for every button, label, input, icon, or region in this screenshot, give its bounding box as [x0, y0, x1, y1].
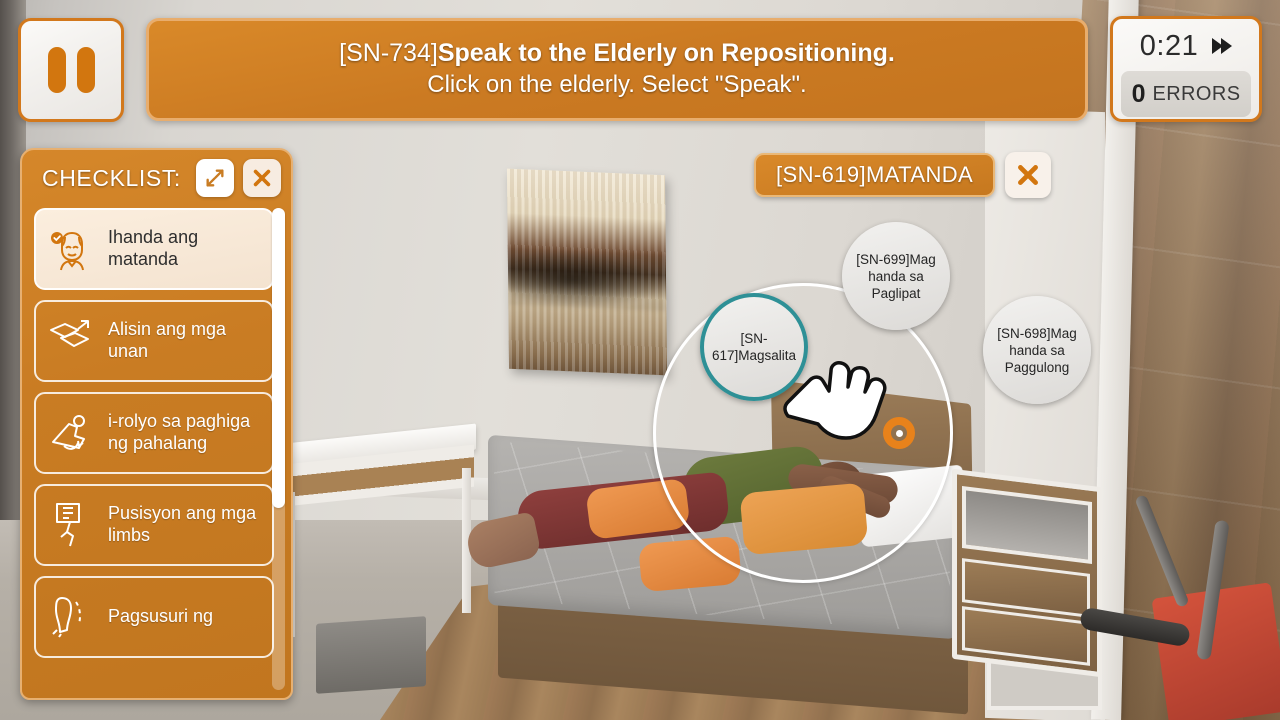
app-root: [SN-734]Speak to the Elderly on Repositi…: [0, 0, 1280, 720]
radial-option-label: [SN-699]Mag handa sa Paglipat: [848, 251, 944, 302]
pause-bar-left: [48, 47, 66, 93]
checklist-header: CHECKLIST:: [22, 150, 291, 206]
checklist-title: CHECKLIST:: [42, 165, 187, 192]
checklist-scrollbar-thumb[interactable]: [272, 208, 285, 508]
hand-cursor-icon: [772, 340, 898, 466]
pillow-remove-icon: [48, 316, 96, 366]
radial-menu-option-prepare-transfer[interactable]: [SN-699]Mag handa sa Paglipat: [842, 222, 950, 330]
objective-title: Speak to the Elderly on Repositioning.: [438, 39, 895, 67]
checklist-scrollbar[interactable]: [272, 208, 285, 690]
objective-instruction: Click on the elderly. Select "Speak".: [427, 71, 806, 100]
list-item-label: Pagsusuri ng: [108, 606, 213, 628]
checklist-panel: CHECKLIST:: [20, 148, 293, 700]
elderly-face-icon: [48, 224, 96, 274]
objective-title-line: [SN-734]Speak to the Elderly on Repositi…: [339, 39, 895, 68]
list-item-label: Ihanda ang matanda: [108, 227, 260, 271]
limb-position-icon: [48, 500, 96, 550]
list-item[interactable]: i-rolyo sa paghiga ng pahalang: [34, 392, 274, 474]
fast-forward-icon[interactable]: [1212, 38, 1232, 54]
room-stool: [316, 616, 426, 694]
errors-count: 0: [1132, 80, 1146, 109]
errors-badge: 0 ERRORS: [1121, 71, 1251, 117]
radial-option-label: [SN-698]Mag handa sa Paggulong: [989, 325, 1085, 376]
objective-task-code: [SN-734]: [339, 39, 438, 67]
list-item[interactable]: Alisin ang mga unan: [34, 300, 274, 382]
pause-bar-right: [77, 47, 95, 93]
timer-row: 0:21: [1121, 25, 1251, 67]
close-icon[interactable]: [1005, 152, 1051, 198]
list-item-label: Pusisyon ang mga limbs: [108, 503, 260, 547]
list-item-label: Alisin ang mga unan: [108, 319, 260, 363]
objective-banner: [SN-734]Speak to the Elderly on Repositi…: [146, 18, 1088, 121]
radial-menu-option-prepare-roll[interactable]: [SN-698]Mag handa sa Paggulong: [983, 296, 1091, 404]
list-item[interactable]: Pusisyon ang mga limbs: [34, 484, 274, 566]
close-icon[interactable]: [243, 159, 281, 197]
list-item[interactable]: Pagsusuri ng: [34, 576, 274, 658]
errors-label: ERRORS: [1152, 83, 1240, 106]
radial-menu-title: [SN-619]MATANDA: [754, 153, 995, 197]
radial-menu-header: [SN-619]MATANDA: [754, 153, 1051, 197]
expand-icon[interactable]: [196, 159, 234, 197]
roll-lateral-icon: [48, 408, 96, 458]
list-item[interactable]: Ihanda ang matanda: [34, 208, 274, 290]
list-item-label: i-rolyo sa paghiga ng pahalang: [108, 411, 260, 455]
wall-painting: [507, 169, 667, 376]
checklist-items[interactable]: Ihanda ang matanda Alisin ang mga unan: [34, 208, 274, 698]
skin-check-icon: [48, 592, 96, 642]
status-hud: 0:21 0 ERRORS: [1110, 16, 1262, 122]
timer-value: 0:21: [1140, 30, 1198, 63]
pause-button[interactable]: [18, 18, 124, 122]
